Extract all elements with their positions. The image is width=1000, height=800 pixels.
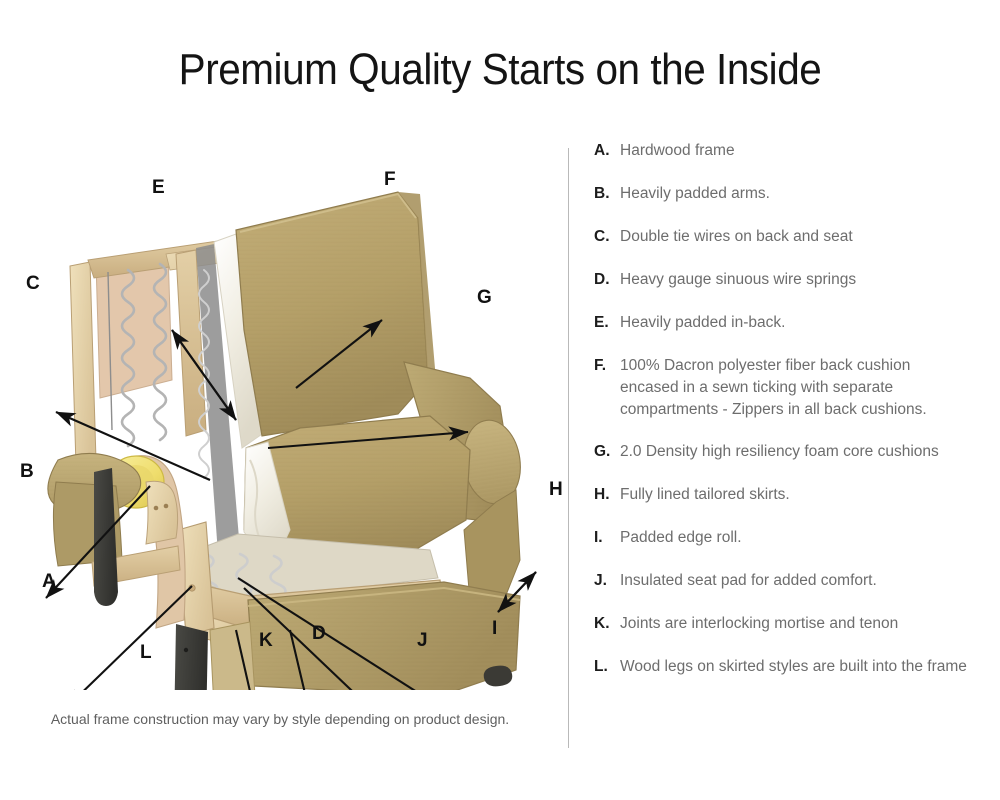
callout-letter-h: H (549, 480, 563, 499)
chair-illustration (0, 130, 568, 690)
legend-text-l: Wood legs on skirted styles are built in… (620, 656, 990, 678)
page-root: Premium Quality Starts on the Inside (0, 0, 1000, 800)
legend-item-d: D. Heavy gauge sinuous wire springs (594, 269, 990, 291)
callout-letter-l: L (140, 643, 152, 662)
frame-rear-post (70, 262, 96, 466)
legend-letter-k: K. (594, 613, 610, 635)
feature-legend-list: A. Hardwood frame B. Heavily padded arms… (594, 140, 990, 699)
legend-text-k: Joints are interlocking mortise and teno… (620, 613, 990, 635)
diagram-caption: Actual frame construction may vary by st… (0, 709, 560, 729)
legend-text-e: Heavily padded in-back. (620, 312, 990, 334)
tailored-skirt-texture (248, 582, 520, 690)
legend-item-b: B. Heavily padded arms. (594, 183, 990, 205)
legend-letter-i: I. (594, 527, 603, 549)
legend-item-h: H. Fully lined tailored skirts. (594, 484, 990, 506)
callout-letter-f: F (384, 170, 396, 189)
chair-cutaway-diagram: A B C D E F G H I J K L (0, 130, 568, 690)
callout-letter-e: E (152, 178, 165, 197)
legend-letter-b: B. (594, 183, 610, 205)
legend-item-j: J. Insulated seat pad for added comfort. (594, 570, 990, 592)
legend-text-f-line2: encased in a sewn ticking with separate (620, 377, 990, 399)
skirt-lining (210, 622, 256, 690)
skirt-foot (484, 666, 513, 687)
legend-text-h: Fully lined tailored skirts. (620, 484, 990, 506)
legend-letter-l: L. (594, 656, 608, 678)
legend-item-i: I. Padded edge roll. (594, 527, 990, 549)
legend-text-a: Hardwood frame (620, 140, 990, 162)
legend-letter-c: C. (594, 226, 610, 248)
callout-letter-c: C (26, 274, 40, 293)
legend-item-c: C. Double tie wires on back and seat (594, 226, 990, 248)
legend-letter-a: A. (594, 140, 610, 162)
legend-text-f-line3: compartments - Zippers in all back cushi… (620, 399, 990, 421)
legend-text-b: Heavily padded arms. (620, 183, 990, 205)
legend-item-f: F. 100% Dacron polyester fiber back cush… (594, 355, 990, 421)
legend-letter-f: F. (594, 355, 606, 377)
legend-letter-d: D. (594, 269, 610, 291)
legend-item-k: K. Joints are interlocking mortise and t… (594, 613, 990, 635)
legend-letter-g: G. (594, 441, 610, 463)
legend-item-e: E. Heavily padded in-back. (594, 312, 990, 334)
back-cushion-texture (236, 192, 428, 436)
callout-letter-i: I (492, 619, 497, 638)
legend-text-c: Double tie wires on back and seat (620, 226, 990, 248)
front-wood-leg (174, 624, 208, 690)
legend-text-g: 2.0 Density high resiliency foam core cu… (620, 441, 990, 463)
legend-text-f-line1: 100% Dacron polyester fiber back cushion (620, 355, 990, 377)
callout-letter-d: D (312, 624, 326, 643)
callout-letter-j: J (417, 631, 428, 650)
leg-bolt (184, 648, 188, 652)
callout-letter-a: A (42, 572, 56, 591)
legend-letter-e: E. (594, 312, 609, 334)
page-title: Premium Quality Starts on the Inside (40, 44, 960, 96)
legend-text-j: Insulated seat pad for added comfort. (620, 570, 990, 592)
legend-item-a: A. Hardwood frame (594, 140, 990, 162)
legend-text-i: Padded edge roll. (620, 527, 990, 549)
legend-letter-j: J. (594, 570, 607, 592)
legend-text-d: Heavy gauge sinuous wire springs (620, 269, 990, 291)
legend-item-l: L. Wood legs on skirted styles are built… (594, 656, 990, 678)
arm-wood-panel (146, 481, 178, 544)
callout-letter-b: B (20, 462, 34, 481)
legend-letter-h: H. (594, 484, 610, 506)
legend-item-g: G. 2.0 Density high resiliency foam core… (594, 441, 990, 463)
column-divider (568, 148, 569, 748)
callout-letter-g: G (477, 288, 492, 307)
callout-letter-k: K (259, 631, 273, 650)
